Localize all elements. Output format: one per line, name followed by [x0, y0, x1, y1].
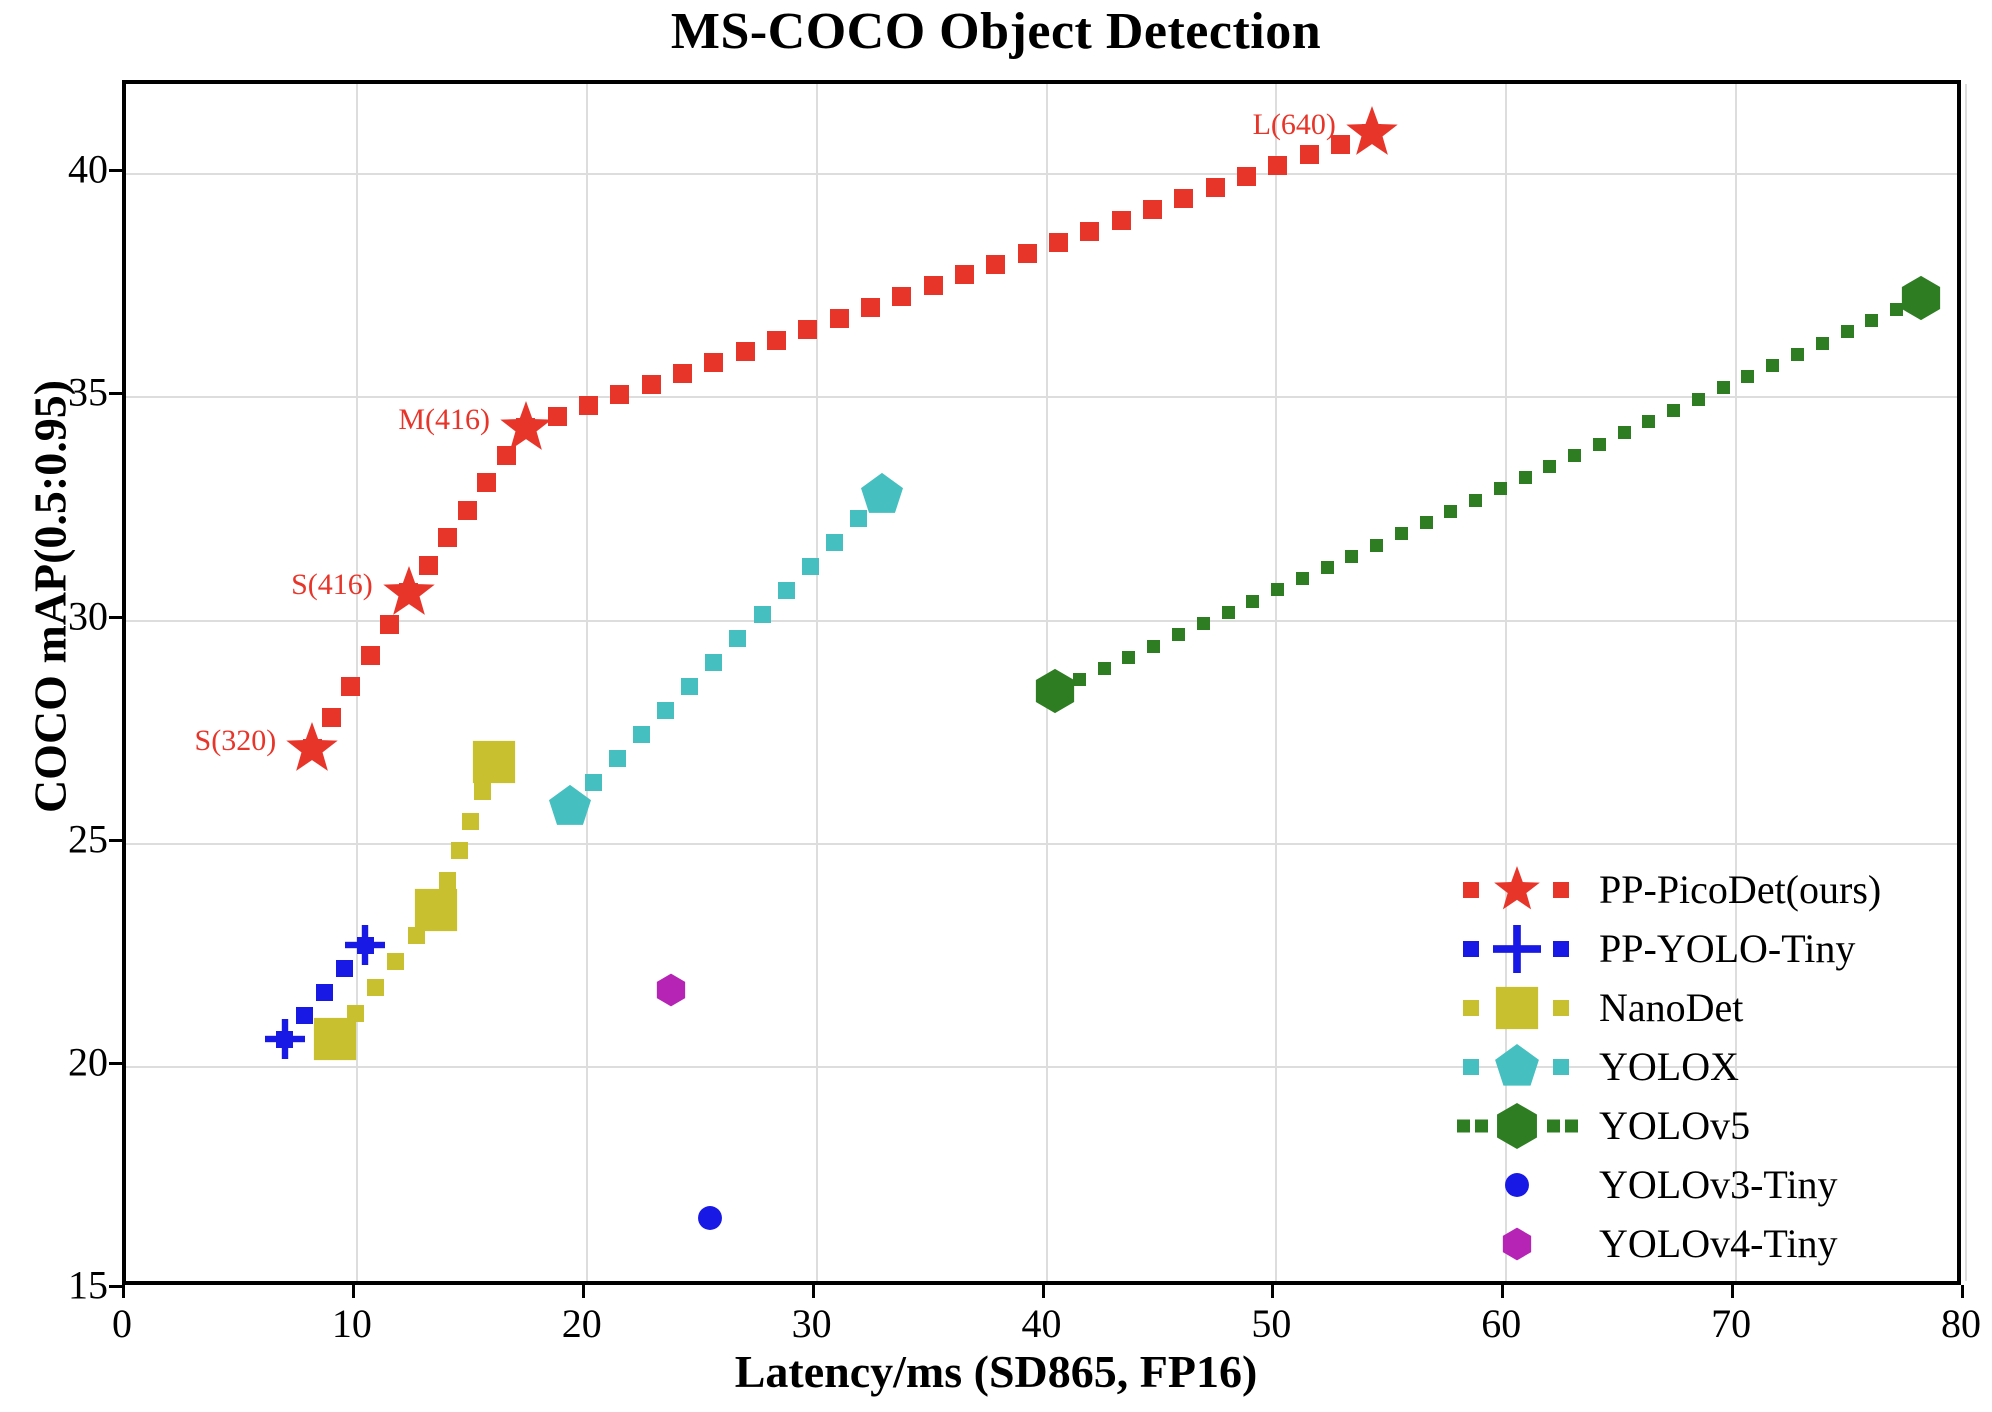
gridline-vertical	[1965, 84, 1967, 1281]
legend-line-dash	[1553, 882, 1569, 898]
y-tick-label: 40	[68, 146, 108, 193]
legend-item-yolov3-tiny[interactable]: YOLOv3-Tiny	[1455, 1155, 1955, 1214]
x-tick-mark	[582, 1285, 585, 1298]
trend-dot	[830, 309, 849, 328]
data-point-plus	[265, 1019, 305, 1059]
trend-dot	[642, 375, 661, 394]
trend-dot	[767, 331, 786, 350]
data-point-plus	[345, 925, 385, 965]
trend-dot	[1816, 337, 1829, 350]
data-point-circle	[697, 1205, 723, 1231]
trend-dot	[729, 630, 746, 647]
trend-dot	[1197, 617, 1210, 630]
trend-dot	[1766, 359, 1779, 372]
legend-glyph	[1493, 1043, 1541, 1091]
trend-dot	[633, 726, 650, 743]
legend-item-yolov5[interactable]: YOLOv5	[1455, 1096, 1955, 1155]
point-annotation: M(416)	[398, 403, 490, 437]
trend-dot	[1147, 640, 1160, 653]
point-annotation: S(416)	[291, 568, 373, 602]
trend-dot	[1049, 233, 1068, 252]
trend-dot	[387, 953, 404, 970]
legend-glyph	[1493, 925, 1541, 973]
x-tick-label: 70	[1711, 1300, 1751, 1347]
trend-dot	[1741, 370, 1754, 383]
trend-dot	[1444, 505, 1457, 518]
trend-dot	[955, 265, 974, 284]
legend-glyph	[1493, 1102, 1541, 1150]
legend-line-dash	[1553, 1000, 1569, 1016]
data-point-pentagon	[859, 472, 905, 518]
legend-glyph	[1504, 1172, 1530, 1198]
x-tick-label: 60	[1481, 1300, 1521, 1347]
legend-item-yolov4-tiny[interactable]: YOLOv4-Tiny	[1455, 1214, 1955, 1273]
trend-dot	[367, 979, 384, 996]
trend-dot	[657, 702, 674, 719]
legend-marker-pentagon-icon	[1455, 1041, 1585, 1093]
trend-dot	[1865, 314, 1878, 327]
legend-item-yolox[interactable]: YOLOX	[1455, 1037, 1955, 1096]
trend-dot	[1519, 471, 1532, 484]
trend-dot	[1206, 178, 1225, 197]
x-tick-mark	[1271, 1285, 1274, 1298]
trend-dot	[361, 646, 380, 665]
data-point-star	[285, 722, 339, 776]
trend-dot	[736, 342, 755, 361]
y-tick-mark	[109, 616, 122, 619]
trend-dot	[1296, 572, 1309, 585]
trend-dot	[1018, 244, 1037, 263]
trend-dot	[1271, 583, 1284, 596]
legend-marker-hexagon-icon	[1455, 1218, 1585, 1270]
trend-dot	[1717, 381, 1730, 394]
x-tick-label: 20	[562, 1300, 602, 1347]
x-tick-mark	[812, 1285, 815, 1298]
legend-marker-circle-icon	[1455, 1159, 1585, 1211]
y-tick-mark	[109, 1285, 122, 1288]
trend-dot	[451, 842, 468, 859]
trend-dot	[778, 582, 795, 599]
trend-dot	[1568, 449, 1581, 462]
legend-line-dash	[1553, 1059, 1569, 1075]
x-tick-mark	[352, 1285, 355, 1298]
x-tick-label: 50	[1251, 1300, 1291, 1347]
point-annotation: L(640)	[1253, 108, 1336, 142]
trend-dot	[579, 396, 598, 415]
legend-glyph	[1493, 984, 1541, 1032]
x-tick-mark	[1961, 1285, 1964, 1298]
trend-dot	[673, 364, 692, 383]
x-tick-label: 0	[112, 1300, 132, 1347]
legend-line-dash	[1475, 1119, 1488, 1132]
legend-label: YOLOv4-Tiny	[1585, 1220, 1838, 1267]
data-point-square	[470, 738, 518, 786]
y-tick-label: 20	[68, 1038, 108, 1085]
legend-label: NanoDet	[1585, 984, 1743, 1031]
legend-line-dash	[1553, 941, 1569, 957]
y-tick-mark	[109, 392, 122, 395]
legend-glyph	[1500, 1227, 1534, 1261]
trend-dot	[1098, 662, 1111, 675]
legend-label: YOLOv3-Tiny	[1585, 1161, 1838, 1208]
legend-glyph	[1493, 866, 1541, 914]
trend-dot	[1222, 606, 1235, 619]
y-tick-label: 15	[68, 1262, 108, 1309]
trend-dot	[1370, 539, 1383, 552]
legend-label: YOLOX	[1585, 1043, 1739, 1090]
trend-dot	[316, 984, 333, 1001]
trend-dot	[704, 353, 723, 372]
legend-marker-plus-icon	[1455, 923, 1585, 975]
trend-dot	[1112, 211, 1131, 230]
legend: PP-PicoDet(ours)PP-YOLO-TinyNanoDetYOLOX…	[1455, 860, 1955, 1273]
data-point-star	[382, 566, 436, 620]
x-tick-mark	[1501, 1285, 1504, 1298]
legend-label: YOLOv5	[1585, 1102, 1750, 1149]
x-tick-mark	[1731, 1285, 1734, 1298]
y-axis-label: COCO mAP(0.5:0.95)	[24, 247, 77, 947]
data-point-star	[1345, 106, 1399, 160]
trend-dot	[1172, 628, 1185, 641]
legend-label: PP-PicoDet(ours)	[1585, 866, 1881, 913]
legend-line-dash	[1565, 1119, 1578, 1132]
trend-dot	[1841, 325, 1854, 338]
trend-dot	[458, 501, 477, 520]
trend-dot	[341, 677, 360, 696]
data-point-square	[311, 1015, 359, 1063]
legend-line-dash	[1457, 1119, 1470, 1132]
legend-line-dash	[1463, 1059, 1479, 1075]
y-tick-mark	[109, 1062, 122, 1065]
trend-dot	[477, 473, 496, 492]
trend-dot	[924, 276, 943, 295]
trend-dot	[1122, 651, 1135, 664]
data-point-star	[499, 401, 553, 455]
trend-dot	[986, 255, 1005, 274]
trend-dot	[1420, 516, 1433, 529]
trend-dot	[802, 558, 819, 575]
data-point-hexagon	[1898, 275, 1944, 321]
y-tick-mark	[109, 839, 122, 842]
trend-dot	[705, 654, 722, 671]
trend-dot	[1618, 426, 1631, 439]
legend-marker-star-icon	[1455, 864, 1585, 916]
data-point-pentagon	[547, 784, 593, 830]
trend-dot	[798, 320, 817, 339]
x-tick-label: 10	[332, 1300, 372, 1347]
trend-dot	[1300, 145, 1319, 164]
x-tick-label: 30	[792, 1300, 832, 1347]
x-tick-label: 80	[1941, 1300, 1981, 1347]
trend-dot	[1321, 561, 1334, 574]
x-axis-label: Latency/ms (SD865, FP16)	[0, 1345, 1992, 1398]
page-title: MS-COCO Object Detection	[0, 2, 1992, 61]
trend-dot	[1692, 393, 1705, 406]
legend-marker-hexagon-icon	[1455, 1100, 1585, 1152]
trend-dot	[1593, 438, 1606, 451]
x-tick-mark	[122, 1285, 125, 1298]
trend-dot	[609, 750, 626, 767]
legend-line-dash	[1463, 941, 1479, 957]
trend-dot	[438, 528, 457, 547]
legend-item-pp-yolo-tiny[interactable]: PP-YOLO-Tiny	[1455, 919, 1955, 978]
trend-dot	[1246, 595, 1259, 608]
trend-dot	[1395, 527, 1408, 540]
trend-dot	[1667, 404, 1680, 417]
trend-dot	[681, 678, 698, 695]
trend-dot	[1080, 222, 1099, 241]
y-tick-mark	[109, 169, 122, 172]
trend-dot	[1237, 167, 1256, 186]
chart-figure: MS-COCO Object Detection 010203040506070…	[0, 0, 1992, 1412]
legend-line-dash	[1463, 882, 1479, 898]
trend-dot	[861, 298, 880, 317]
trend-dot	[1642, 415, 1655, 428]
legend-line-dash	[1463, 1000, 1479, 1016]
trend-dot	[1143, 200, 1162, 219]
legend-item-pp-picodet-ours[interactable]: PP-PicoDet(ours)	[1455, 860, 1955, 919]
data-point-square	[412, 886, 460, 934]
trend-dot	[1543, 460, 1556, 473]
data-point-hexagon	[1032, 668, 1078, 714]
trend-dot	[462, 813, 479, 830]
legend-item-nanodet[interactable]: NanoDet	[1455, 978, 1955, 1037]
trend-dot	[1791, 348, 1804, 361]
x-tick-label: 40	[1022, 1300, 1062, 1347]
legend-marker-square-icon	[1455, 982, 1585, 1034]
x-tick-mark	[1042, 1285, 1045, 1298]
data-point-hexagon	[654, 973, 688, 1007]
point-annotation: S(320)	[195, 724, 277, 758]
trend-dot	[754, 606, 771, 623]
trend-dot	[1494, 482, 1507, 495]
trend-dot	[1469, 494, 1482, 507]
trend-dot	[1268, 156, 1287, 175]
trend-dot	[1345, 550, 1358, 563]
trend-dot	[826, 534, 843, 551]
legend-line-dash	[1547, 1119, 1560, 1132]
trend-dot	[892, 287, 911, 306]
legend-label: PP-YOLO-Tiny	[1585, 925, 1855, 972]
trend-dot	[610, 385, 629, 404]
trend-dot	[1174, 189, 1193, 208]
